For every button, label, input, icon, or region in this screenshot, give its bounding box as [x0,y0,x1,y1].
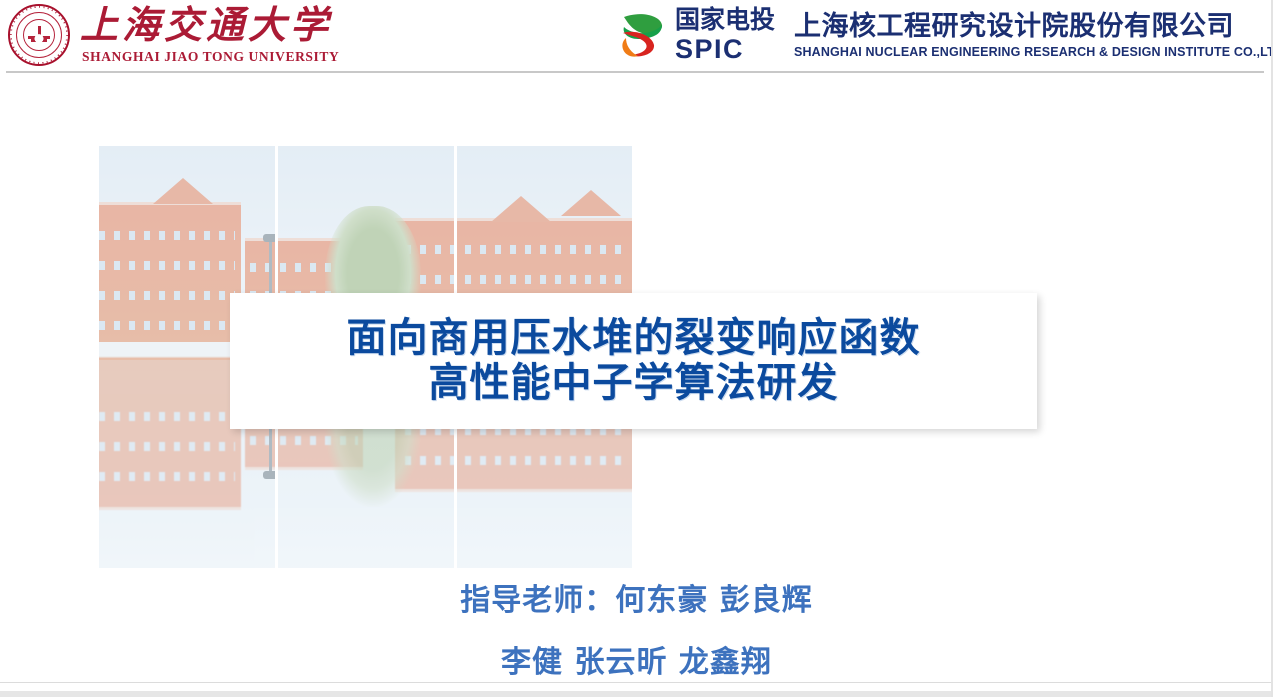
building-left-reflection [99,357,241,510]
snerdi-name-cn: 上海核工程研究设计院股份有限公司 [794,13,1273,40]
sjtu-name-en: SHANGHAI JIAO TONG UNIVERSITY [82,50,339,64]
lamp-head-reflection-icon [263,471,275,479]
spic-group-cn: 国家电投 [675,8,775,33]
snerdi-wordmark: 上海核工程研究设计院股份有限公司 SHANGHAI NUCLEAR ENGINE… [794,13,1273,59]
spic-logo: 国家电投 SPIC 上海核工程研究设计院股份有限公司 SHANGHAI NUCL… [618,8,1273,63]
lamp-head-icon [263,234,275,242]
sjtu-seal-ring-icon [10,6,68,64]
advisors-line: 指导老师：何东豪 彭良辉 [0,575,1273,619]
sjtu-seal-icon [8,4,70,66]
viewer-bottom-bar-inner [0,691,1273,697]
building-gable [153,178,213,204]
slide-header: 上海交通大学 SHANGHAI JIAO TONG UNIVERSITY 国家电… [0,0,1273,74]
spic-swirl-icon [618,9,666,63]
sjtu-wordmark: 上海交通大学 SHANGHAI JIAO TONG UNIVERSITY [78,6,339,64]
title-card: 面向商用压水堆的裂变响应函数 高性能中子学算法研发 [230,293,1037,429]
building-right-gable [491,196,551,222]
spic-wordmark: 国家电投 SPIC [675,8,775,63]
page-title-line-1: 面向商用压水堆的裂变响应函数 [347,316,921,361]
page-title-line-2: 高性能中子学算法研发 [429,361,839,406]
students-line: 李健 张云昕 龙鑫翔 [0,637,1273,681]
presentation-slide: 上海交通大学 SHANGHAI JIAO TONG UNIVERSITY 国家电… [0,0,1273,697]
header-divider [6,71,1264,73]
snerdi-name-en: SHANGHAI NUCLEAR ENGINEERING RESEARCH & … [794,46,1273,59]
sjtu-logo: 上海交通大学 SHANGHAI JIAO TONG UNIVERSITY [8,4,339,66]
viewer-bottom-bar [0,682,1273,697]
sjtu-name-cn: 上海交通大学 [80,6,339,44]
spic-group-en: SPIC [675,36,775,63]
building-right-gable-2 [561,190,621,216]
building-left [99,202,241,360]
credits-block: 指导老师：何东豪 彭良辉 李健 张云昕 龙鑫翔 [0,575,1273,681]
